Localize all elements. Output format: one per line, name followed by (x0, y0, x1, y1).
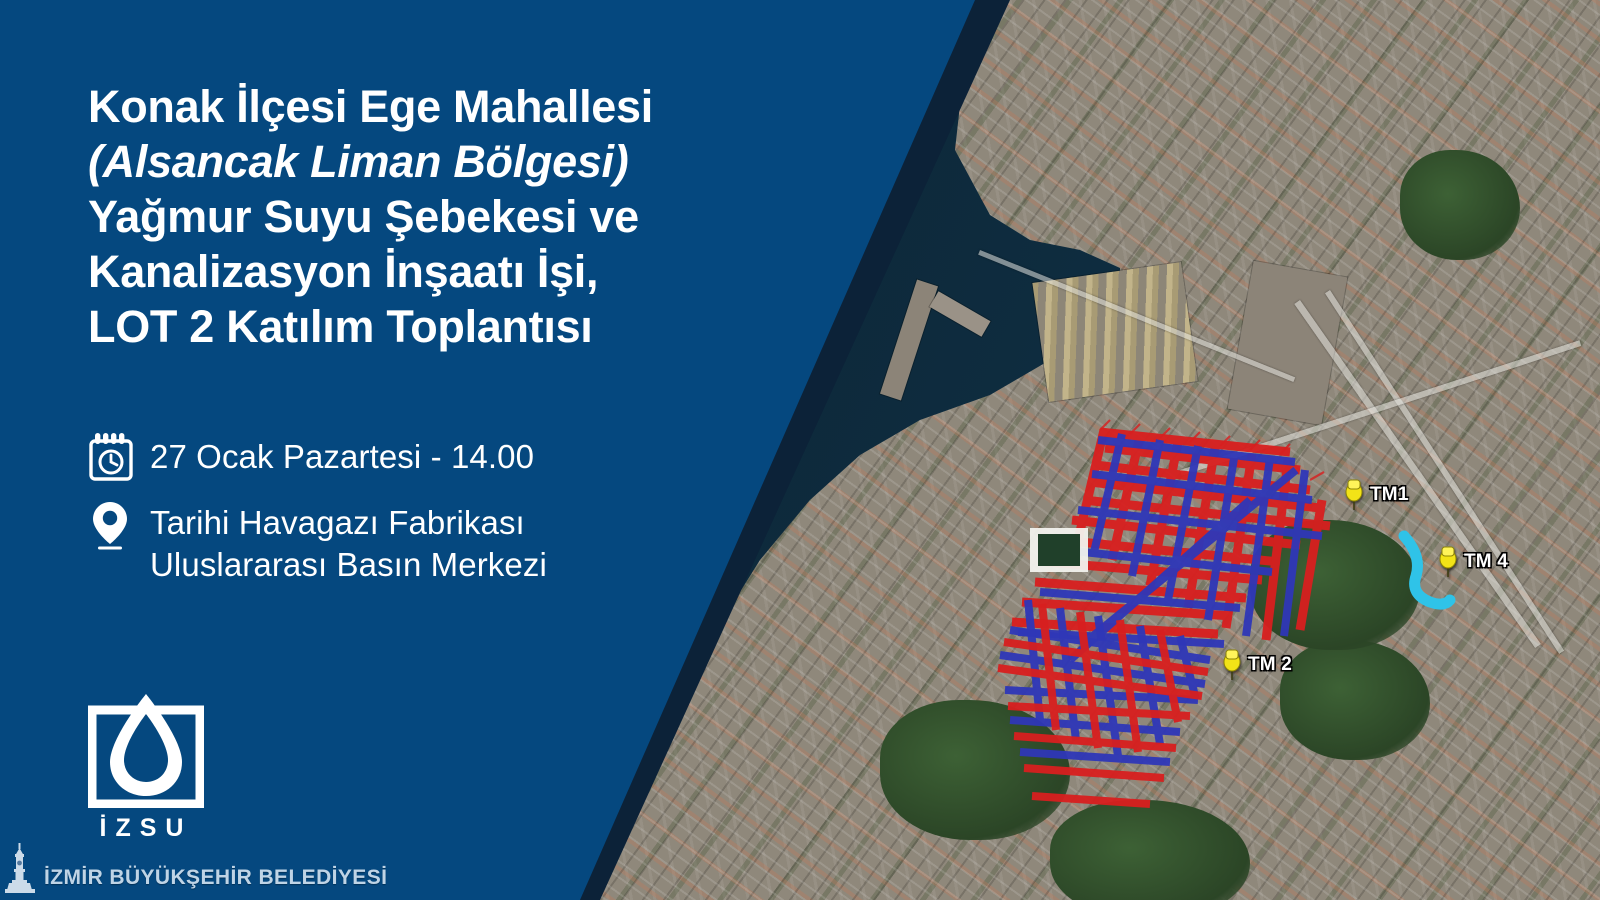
yellow-pushpin-icon (1340, 476, 1368, 514)
title-line-4: Kanalizasyon İnşaatı İşi, (88, 245, 788, 300)
calendar-clock-icon (88, 432, 150, 482)
panel-content: Konak İlçesi Ege Mahallesi (Alsancak Lim… (0, 0, 1000, 900)
title-line-1: Konak İlçesi Ege Mahallesi (88, 80, 788, 135)
map-marker-tm2[interactable]: TM 2 (1218, 646, 1292, 684)
event-venue-line-2: Uluslararası Basın Merkezi (150, 544, 547, 586)
event-datetime: 27 Ocak Pazartesi - 14.00 (150, 432, 534, 478)
izmir-clock-tower-icon (0, 842, 40, 894)
map-pin-icon (88, 498, 150, 552)
event-venue: Tarihi Havagazı Fabrikası Uluslararası B… (150, 498, 547, 586)
event-venue-row: Tarihi Havagazı Fabrikası Uluslararası B… (88, 498, 768, 586)
map-marker-tm4[interactable]: TM 4 (1434, 543, 1508, 581)
title-line-2: (Alsancak Liman Bölgesi) (88, 135, 788, 190)
page-title: Konak İlçesi Ege Mahallesi (Alsancak Lim… (88, 80, 788, 354)
izsu-logo: İZSU (88, 692, 218, 843)
title-line-3: Yağmur Suyu Şebekesi ve (88, 190, 788, 245)
map-marker-label: TM1 (1370, 484, 1409, 506)
municipality-branding: İZMİR BÜYÜKŞEHİR BELEDİYESİ (0, 842, 387, 894)
yellow-pushpin-icon (1434, 543, 1462, 581)
izsu-wordmark: İZSU (88, 814, 204, 843)
municipality-name: İZMİR BÜYÜKŞEHİR BELEDİYESİ (44, 866, 387, 894)
map-marker-label: TM 4 (1464, 551, 1508, 573)
map-marker-tm1[interactable]: TM1 (1340, 476, 1409, 514)
event-datetime-row: 27 Ocak Pazartesi - 14.00 (88, 432, 768, 482)
yellow-pushpin-icon (1218, 646, 1246, 684)
izsu-water-drop-logo (88, 692, 204, 808)
poster-canvas: TM1 TM 4 TM 2 Konak İlçesi Ege Mahallesi (0, 0, 1600, 900)
event-meta: 27 Ocak Pazartesi - 14.00 Tarihi Havagaz… (88, 432, 768, 602)
event-venue-line-1: Tarihi Havagazı Fabrikası (150, 502, 547, 544)
title-line-5: LOT 2 Katılım Toplantısı (88, 300, 788, 355)
map-marker-label: TM 2 (1248, 654, 1292, 676)
